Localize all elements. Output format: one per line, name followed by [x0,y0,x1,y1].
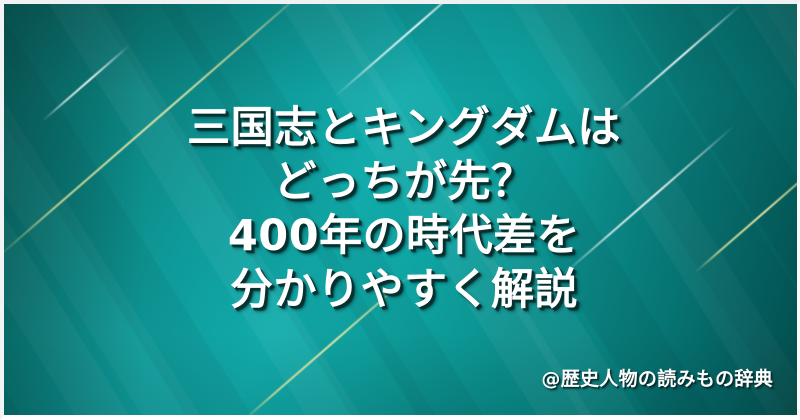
credit-watermark: @歴史人物の読みもの辞典 [541,364,773,391]
headline-line-1: 三国志とキングダムは [4,101,800,155]
headline: 三国志とキングダムは どっちが先？ 400年の時代差を 分かりやすく解説 [4,101,800,317]
banner-frame: 三国志とキングダムは どっちが先？ 400年の時代差を 分かりやすく解説 @歴史… [0,0,800,420]
headline-line-3: 400年の時代差を [4,209,800,263]
banner-image: 三国志とキングダムは どっちが先？ 400年の時代差を 分かりやすく解説 @歴史… [0,0,800,420]
headline-line-2: どっちが先？ [4,155,800,209]
headline-line-4: 分かりやすく解説 [4,263,800,317]
